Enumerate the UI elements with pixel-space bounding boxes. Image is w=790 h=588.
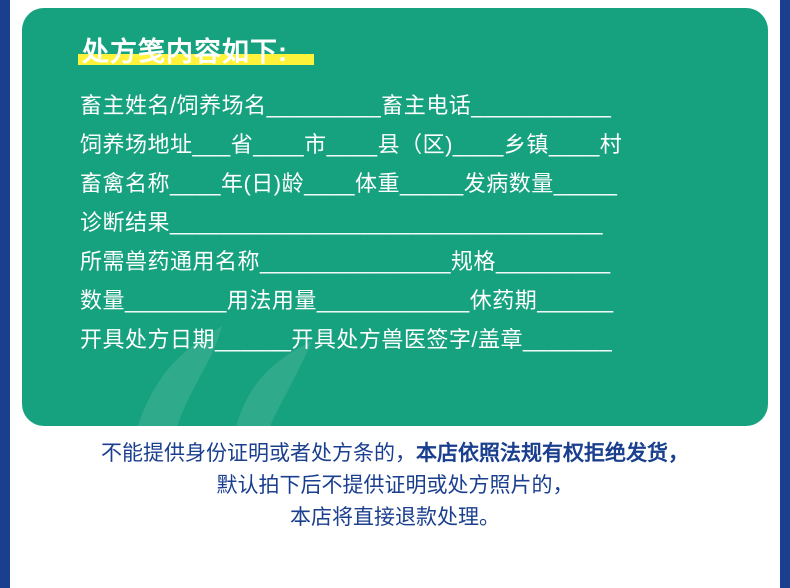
prescription-form-lines: 畜主姓名/饲养场名_________畜主电话___________ 饲养场地址_…: [80, 86, 720, 359]
footer-notice: 不能提供身份证明或者处方条的，本店依照法规有权拒绝发货， 默认拍下后不提供证明或…: [0, 438, 790, 534]
footer-line-1-bold: 本店依照法规有权拒绝发货，: [416, 442, 689, 465]
form-line-drug-name: 所需兽药通用名称_______________规格_________: [80, 242, 720, 281]
footer-line-3: 本店将直接退款处理。: [0, 502, 790, 534]
footer-line-1: 不能提供身份证明或者处方条的，本店依照法规有权拒绝发货，: [0, 438, 790, 470]
card-title-wrap: 处方笺内容如下:: [80, 30, 290, 69]
form-line-date-signature: 开具处方日期______开具处方兽医签字/盖章_______: [80, 320, 720, 359]
card-title: 处方笺内容如下:: [80, 30, 290, 69]
prescription-card: 处方笺内容如下: 畜主姓名/饲养场名_________畜主电话_________…: [22, 8, 768, 426]
form-line-owner: 畜主姓名/饲养场名_________畜主电话___________: [80, 86, 720, 125]
form-line-diagnosis: 诊断结果__________________________________: [80, 203, 720, 242]
form-line-animal: 畜禽名称____年(日)龄____体重_____发病数量_____: [80, 164, 720, 203]
footer-line-1-prefix: 不能提供身份证明或者处方条的，: [101, 442, 416, 465]
form-line-quantity: 数量________用法用量____________休药期______: [80, 281, 720, 320]
footer-line-2: 默认拍下后不提供证明或处方照片的，: [0, 470, 790, 502]
page-root: 处方笺内容如下: 畜主姓名/饲养场名_________畜主电话_________…: [0, 0, 790, 588]
form-line-address: 饲养场地址___省____市____县（区)____乡镇____村: [80, 125, 720, 164]
